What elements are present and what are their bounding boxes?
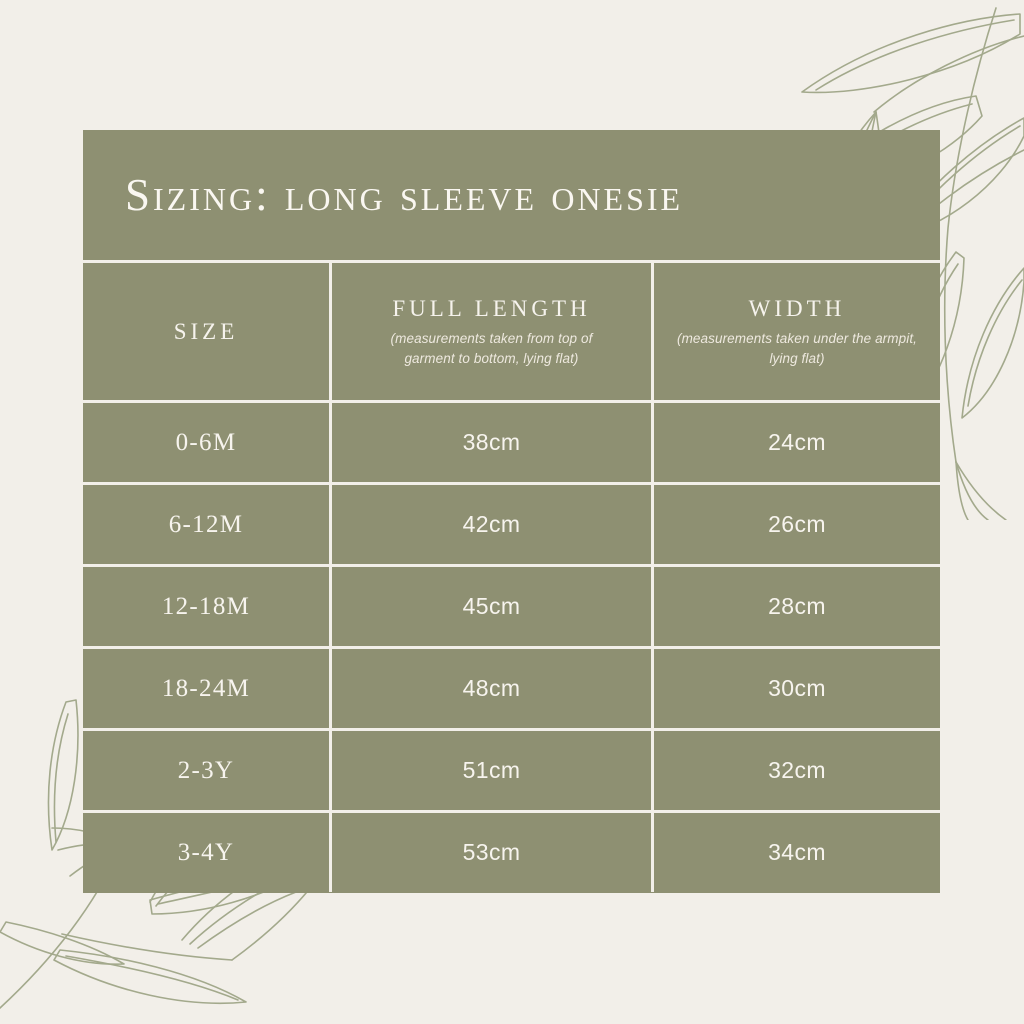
cell-full-length: 38cm [329,403,651,482]
full-length-value: 38cm [463,431,521,454]
cell-width: 26cm [651,485,940,564]
size-value: 12-18M [162,594,250,619]
cell-size: 2-3Y [83,731,329,810]
column-header-full-length-label: FULL LENGTH [392,295,590,323]
column-header-full-length-subtitle: (measurements taken from top of garment … [367,329,617,368]
full-length-value: 53cm [463,841,521,864]
cell-width: 28cm [651,567,940,646]
cell-width: 24cm [651,403,940,482]
cell-size: 3-4Y [83,813,329,892]
page-title: Sizing: long sleeve onesie [125,173,683,218]
cell-width: 34cm [651,813,940,892]
cell-full-length: 53cm [329,813,651,892]
width-value: 30cm [768,677,826,700]
full-length-value: 48cm [463,677,521,700]
size-value: 2-3Y [178,758,235,783]
table-row: 18-24M 48cm 30cm [83,646,940,728]
table-row: 3-4Y 53cm 34cm [83,810,940,892]
cell-width: 30cm [651,649,940,728]
width-value: 28cm [768,595,826,618]
table-row: 0-6M 38cm 24cm [83,400,940,482]
cell-full-length: 45cm [329,567,651,646]
cell-size: 0-6M [83,403,329,482]
size-value: 3-4Y [178,840,235,865]
size-value: 6-12M [169,512,244,537]
column-header-width-label: WIDTH [749,295,846,323]
table-header-row: SIZE FULL LENGTH (measurements taken fro… [83,260,940,400]
width-value: 32cm [768,759,826,782]
table-row: 2-3Y 51cm 32cm [83,728,940,810]
column-header-size: SIZE [83,263,329,400]
column-header-size-label: SIZE [174,318,239,346]
cell-full-length: 42cm [329,485,651,564]
table-row: 12-18M 45cm 28cm [83,564,940,646]
column-header-width-subtitle: (measurements taken under the armpit, ly… [672,329,922,368]
cell-size: 12-18M [83,567,329,646]
cell-width: 32cm [651,731,940,810]
cell-size: 6-12M [83,485,329,564]
width-value: 34cm [768,841,826,864]
column-header-full-length: FULL LENGTH (measurements taken from top… [329,263,651,400]
width-value: 24cm [768,431,826,454]
full-length-value: 45cm [463,595,521,618]
column-header-width: WIDTH (measurements taken under the armp… [651,263,940,400]
sizing-chart-card: Sizing: long sleeve onesie SIZE FULL LEN… [83,130,940,893]
cell-full-length: 51cm [329,731,651,810]
size-value: 18-24M [162,676,250,701]
table-row: 6-12M 42cm 26cm [83,482,940,564]
full-length-value: 51cm [463,759,521,782]
full-length-value: 42cm [463,513,521,536]
cell-full-length: 48cm [329,649,651,728]
cell-size: 18-24M [83,649,329,728]
chart-title-band: Sizing: long sleeve onesie [83,130,940,260]
size-value: 0-6M [176,430,237,455]
width-value: 26cm [768,513,826,536]
sizing-chart-canvas: Sizing: long sleeve onesie SIZE FULL LEN… [0,0,1024,1024]
